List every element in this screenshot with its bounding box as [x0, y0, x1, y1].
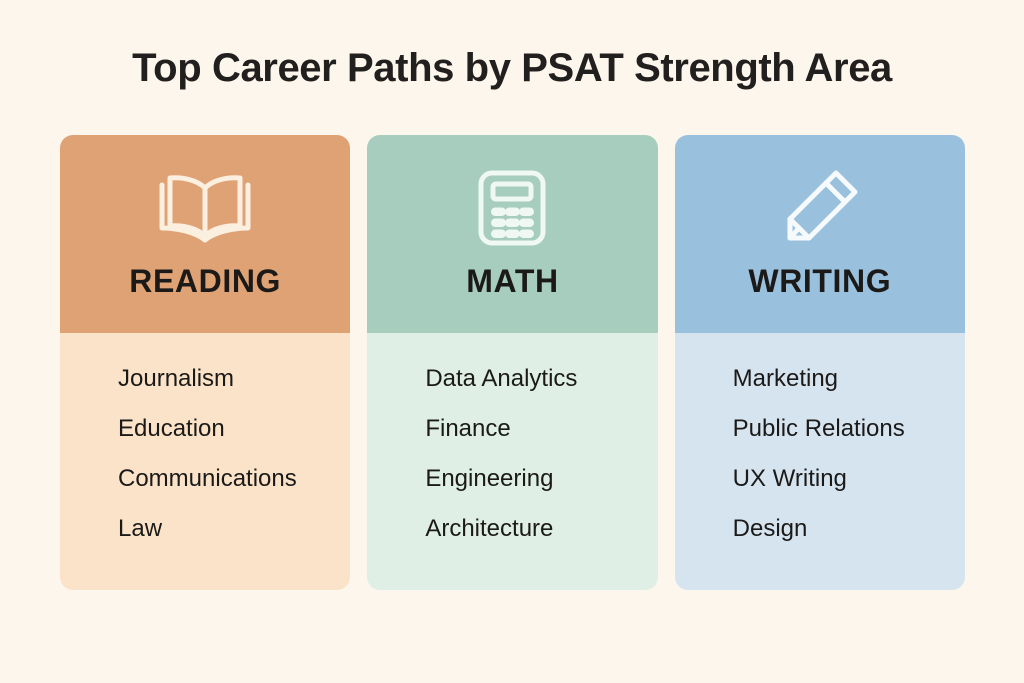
list-item: Finance	[425, 417, 657, 441]
list-item: Public Relations	[733, 417, 965, 441]
list-item: UX Writing	[733, 467, 965, 491]
strength-area-card-reading: READING Journalism Education Communicati…	[60, 135, 350, 590]
strength-area-card-row: READING Journalism Education Communicati…	[60, 135, 965, 590]
open-book-icon	[155, 169, 255, 247]
card-label-reading: READING	[129, 265, 281, 297]
list-item: Data Analytics	[425, 367, 657, 391]
list-item: Marketing	[733, 367, 965, 391]
career-list-reading: Journalism Education Communications Law	[60, 333, 350, 590]
list-item: Architecture	[425, 517, 657, 541]
list-item: Law	[118, 517, 350, 541]
pencil-icon	[776, 169, 864, 247]
card-label-writing: WRITING	[748, 265, 891, 297]
career-list-math: Data Analytics Finance Engineering Archi…	[367, 333, 657, 590]
list-item: Journalism	[118, 367, 350, 391]
strength-area-card-writing: WRITING Marketing Public Relations UX Wr…	[675, 135, 965, 590]
list-item: Design	[733, 517, 965, 541]
card-header-math: MATH	[367, 135, 657, 333]
page-title: Top Career Paths by PSAT Strength Area	[0, 44, 1024, 92]
list-item: Communications	[118, 467, 350, 491]
infographic-poster: Top Career Paths by PSAT Strength Area R…	[0, 0, 1024, 683]
card-header-reading: READING	[60, 135, 350, 333]
career-list-writing: Marketing Public Relations UX Writing De…	[675, 333, 965, 590]
strength-area-card-math: MATH Data Analytics Finance Engineering …	[367, 135, 657, 590]
calculator-icon	[477, 169, 547, 247]
list-item: Engineering	[425, 467, 657, 491]
list-item: Education	[118, 417, 350, 441]
card-label-math: MATH	[466, 265, 558, 297]
card-header-writing: WRITING	[675, 135, 965, 333]
